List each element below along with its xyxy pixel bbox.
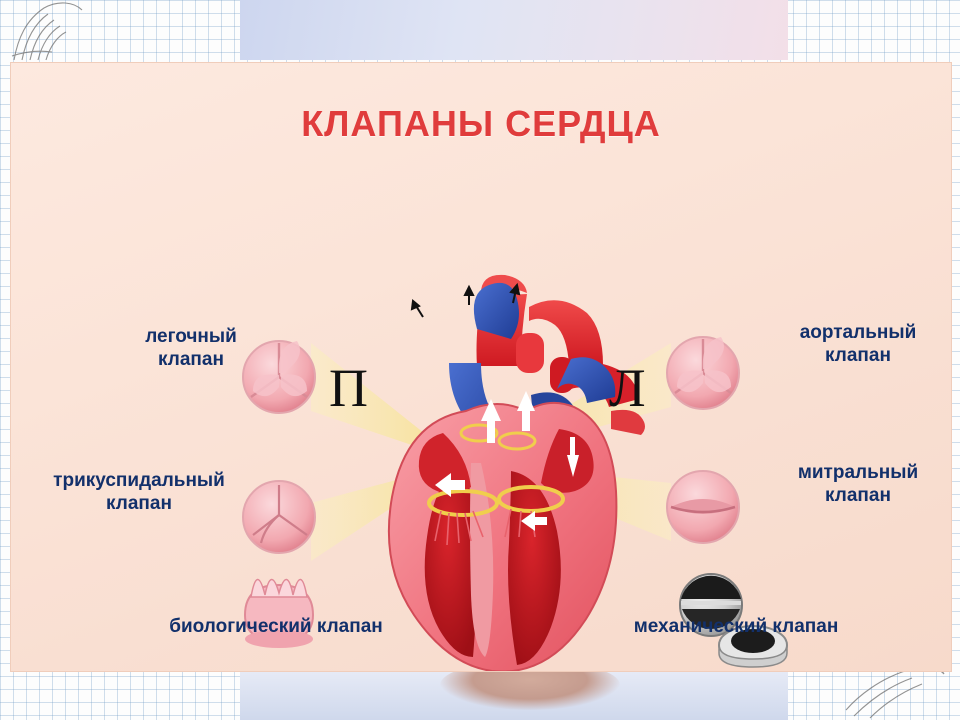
label-tricuspid-valve: трикуспидальный клапан	[17, 469, 261, 515]
slide-canvas: КЛАПАНЫ СЕРДЦА	[0, 0, 960, 720]
label-mechanical-valve: механический клапан	[571, 615, 901, 638]
label-biological-valve: биологический клапан	[111, 615, 441, 638]
sketch-decoration-top-left	[4, 0, 124, 62]
label-mitral-valve: митральный клапан	[763, 461, 953, 507]
mitral-valve-view	[667, 471, 739, 543]
label-pulmonary-valve: легочный клапан	[101, 325, 281, 371]
marker-left-chamber: Л	[609, 361, 646, 415]
artery-branch-a	[516, 333, 544, 373]
aortic-valve-view	[667, 337, 739, 409]
marker-right-chamber: П	[329, 361, 368, 415]
heart-illustration	[389, 275, 645, 671]
label-aortic-valve: аортальный клапан	[763, 321, 953, 367]
diagram-panel: КЛАПАНЫ СЕРДЦА	[10, 62, 952, 672]
top-gradient-band	[240, 0, 788, 60]
heart-valves-diagram	[11, 111, 951, 671]
